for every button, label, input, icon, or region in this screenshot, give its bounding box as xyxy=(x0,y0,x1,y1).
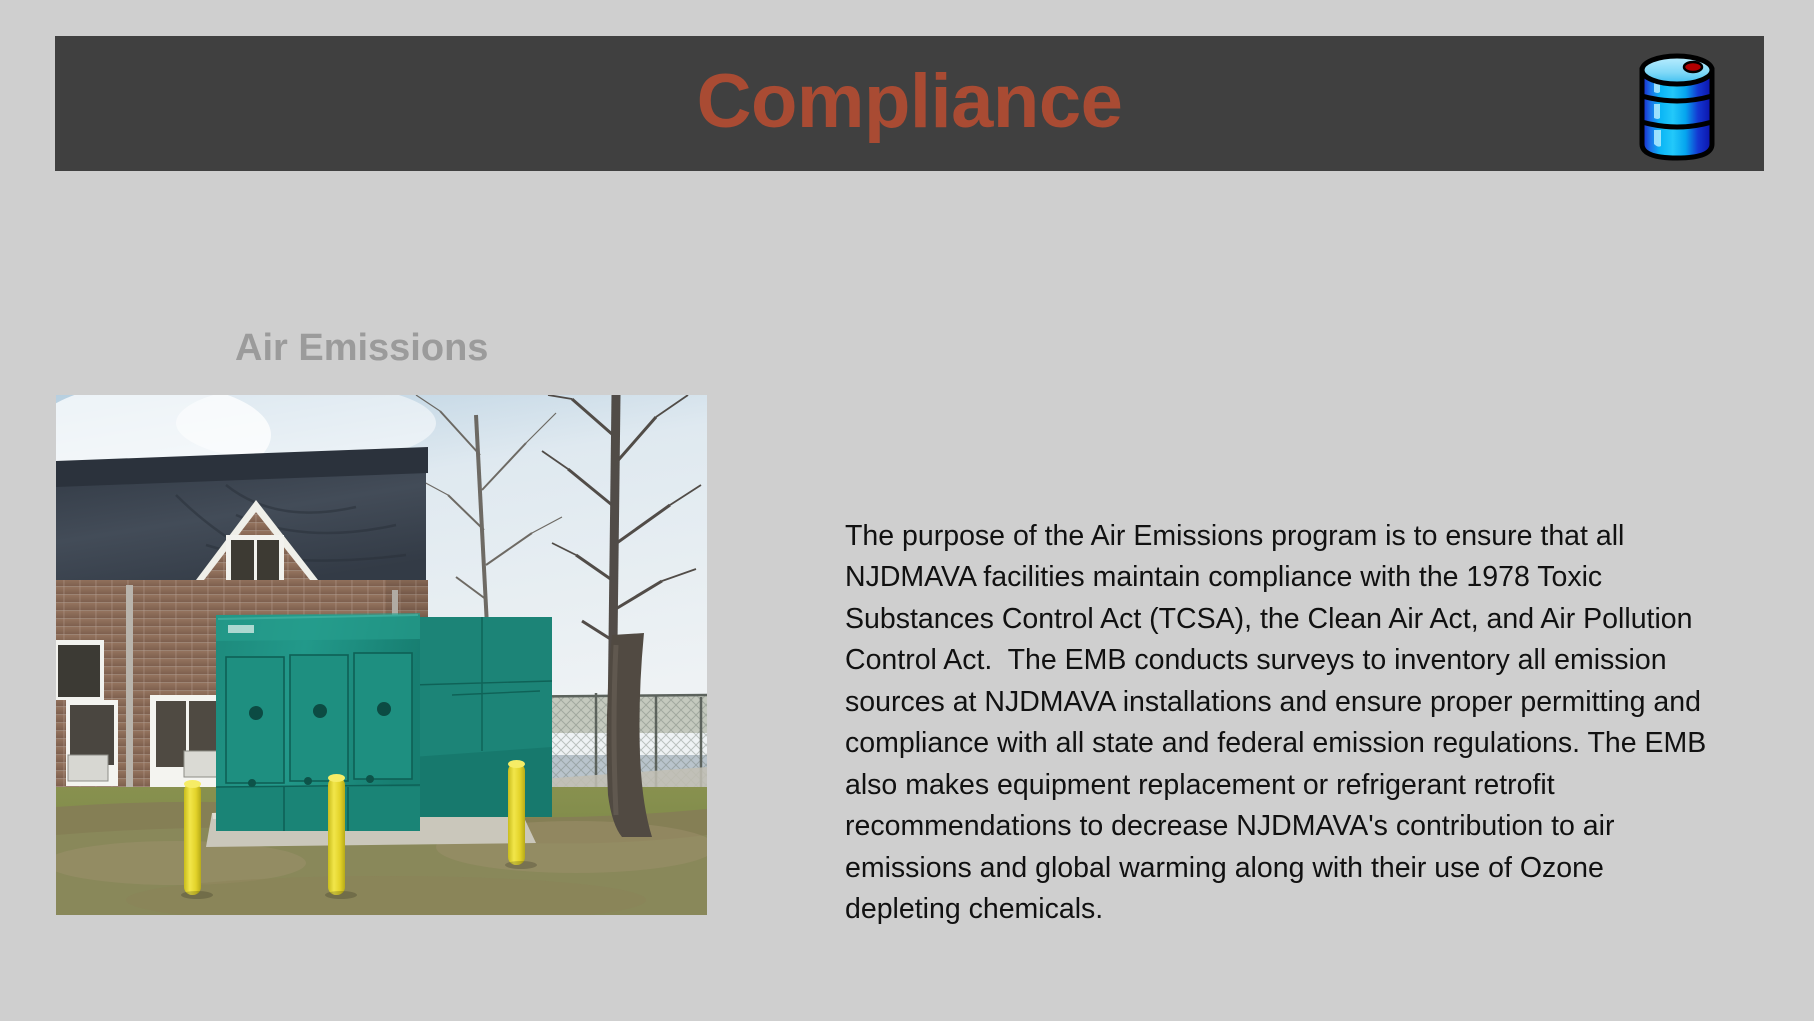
section-heading-air-emissions: Air Emissions xyxy=(235,327,488,370)
page-title: Compliance xyxy=(697,64,1123,144)
oil-drum-icon xyxy=(1634,48,1720,164)
air-emissions-description: The purpose of the Air Emissions program… xyxy=(845,516,1707,931)
air-emissions-photo xyxy=(56,395,707,915)
slide-header-bar: Compliance xyxy=(55,36,1764,171)
